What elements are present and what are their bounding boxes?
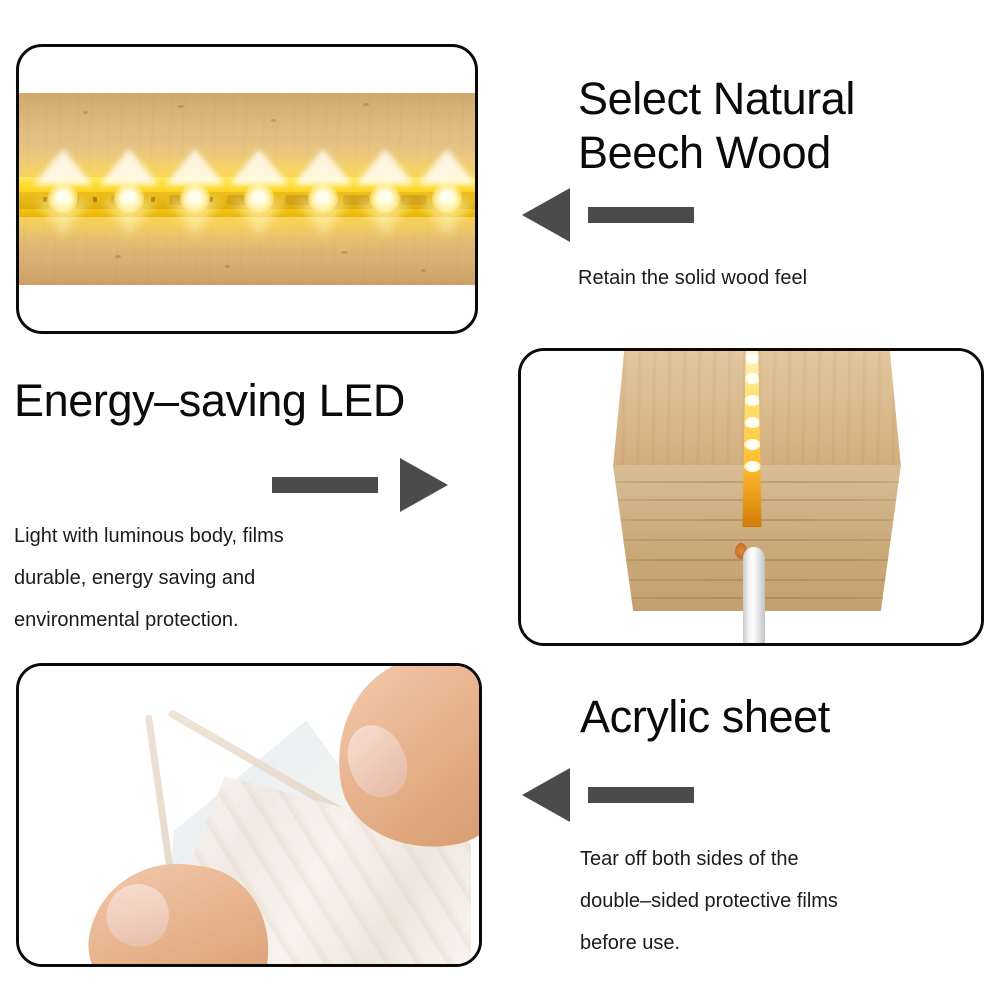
wood-speck xyxy=(341,251,348,254)
groove-led-dot xyxy=(744,461,761,472)
subtext-energy-saving-description: Light with luminous body, films durable,… xyxy=(14,515,444,641)
wood-speck xyxy=(421,269,426,272)
arrow-shaft xyxy=(272,477,378,493)
growth-ring xyxy=(596,539,919,541)
led-emitter xyxy=(180,183,210,213)
groove-led-dot xyxy=(744,417,761,428)
groove-led-dot xyxy=(744,373,761,384)
wood-speck xyxy=(225,265,230,268)
wood-speck xyxy=(83,111,88,114)
photo-card-acrylic-sheet xyxy=(16,663,482,967)
headline-select-natural-beech-wood: Select Natural Beech Wood xyxy=(578,72,978,180)
arrow-head-left-icon xyxy=(522,188,570,242)
arrow-shaft xyxy=(588,787,694,803)
groove-led-dot xyxy=(744,395,761,406)
subtext-retain-solid-wood-feel: Retain the solid wood feel xyxy=(578,257,978,299)
arrow-right-energy-saving-led xyxy=(272,458,448,512)
headline-energy-saving-led: Energy–saving LED xyxy=(14,374,484,428)
wood-speck xyxy=(177,105,184,108)
led-emitter xyxy=(370,183,400,213)
photo-card-beech-block xyxy=(518,348,984,646)
beech-block-with-lit-groove-photo xyxy=(521,351,981,643)
led-emitter xyxy=(244,183,274,213)
led-emitter xyxy=(432,183,462,213)
hands-peeling-protective-film-photo xyxy=(19,666,479,964)
arrow-left-beech-wood xyxy=(522,188,698,242)
arrow-head-right-icon xyxy=(400,458,448,512)
wood-speck xyxy=(363,103,369,106)
groove-led-dot xyxy=(744,439,761,450)
headline-acrylic-sheet: Acrylic sheet xyxy=(580,690,980,744)
arrow-left-acrylic-sheet xyxy=(522,768,698,822)
subtext-tear-off-films: Tear off both sides of the double–sided … xyxy=(580,838,980,964)
led-emitter xyxy=(114,183,144,213)
led-emitter xyxy=(308,183,338,213)
photo-card-led-strip xyxy=(16,44,478,334)
arrow-head-left-icon xyxy=(522,768,570,822)
infographic-canvas: Select Natural Beech Wood Retain the sol… xyxy=(0,0,1000,1000)
led-strip-on-beech-wood-photo xyxy=(19,93,475,285)
led-emitter xyxy=(48,183,78,213)
arrow-shaft xyxy=(588,207,694,223)
white-power-cable xyxy=(743,547,765,643)
wood-speck xyxy=(271,119,276,122)
led-solder-dot xyxy=(93,197,97,202)
wood-speck xyxy=(115,255,121,258)
